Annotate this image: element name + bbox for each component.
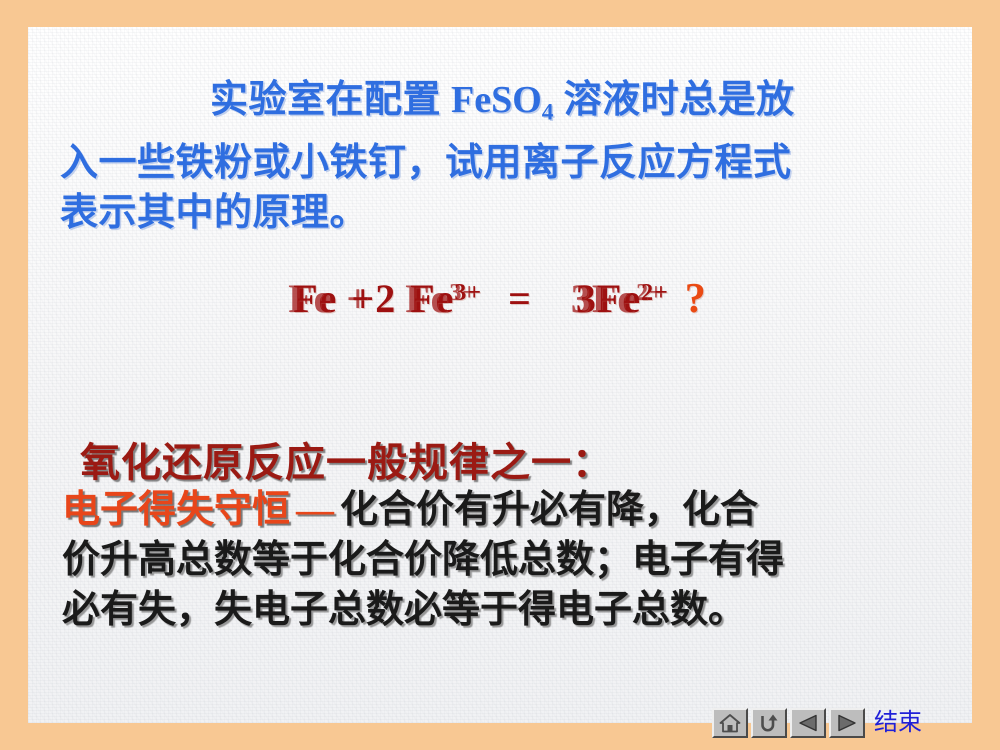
question-line-3: 表示其中的原理。 (60, 188, 950, 238)
triangle-left-icon (797, 714, 819, 732)
equation-reactant-ferric: Fe3+ (410, 276, 482, 321)
equation-equals-sign: = (508, 276, 532, 321)
equation-plus-sign: + (351, 275, 375, 322)
question-text-block: 实验室在配置 FeSO4 溶液时总是放 入一些铁粉或小铁钉，试用离子反应方程式 … (60, 75, 950, 238)
ferrous-base: Fe (597, 275, 641, 322)
end-link[interactable]: 结束 (874, 709, 922, 737)
ferric-charge: 3+ (454, 280, 482, 307)
rule-body-line-1-rest: 化合价有升必有降，化合 (340, 489, 758, 531)
equation-product-ferrous: Fe2+ (597, 276, 669, 321)
equation-reactant-iron: Fe (293, 275, 337, 322)
rule-body-text: 电子得失守恒—化合价有升必有降，化合 价升高总数等于化合价降低总数；电子有得 必… (62, 485, 962, 635)
ferric-base: Fe (410, 275, 454, 322)
ferrous-charge: 2+ (641, 280, 669, 307)
rule-body-line-2: 价升高总数等于化合价降低总数；电子有得 (62, 535, 962, 585)
next-button[interactable] (829, 708, 865, 738)
u-turn-arrow-icon (758, 713, 780, 734)
feso4-subscript: 4 (542, 100, 554, 126)
home-icon (719, 713, 741, 733)
question-line-1-prefix: 实验室在配置 (210, 79, 451, 121)
rule-title: 氧化还原反应一般规律之一： (80, 430, 613, 488)
feso4-base: FeSO (451, 79, 542, 121)
return-button[interactable] (751, 708, 787, 738)
navigation-bar: 结束 (712, 708, 922, 738)
previous-button[interactable] (790, 708, 826, 738)
rule-body-line-3: 必有失，失电子总数必等于得电子总数。 (62, 585, 962, 635)
equation-question-mark: ? (685, 276, 707, 322)
home-button[interactable] (712, 708, 748, 738)
equation-coefficient-two: 2 (375, 276, 396, 321)
rule-highlight-phrase: 电子得失守恒 (62, 489, 290, 531)
question-line-1-suffix: 溶液时总是放 (554, 79, 795, 121)
slide-frame: 实验室在配置 FeSO4 溶液时总是放 入一些铁粉或小铁钉，试用离子反应方程式 … (0, 0, 1000, 750)
question-line-1: 实验室在配置 FeSO4 溶液时总是放 (60, 75, 950, 138)
feso4-formula: FeSO4 (451, 79, 554, 121)
rule-dash: — (290, 489, 340, 531)
rule-body-line-1: 电子得失守恒—化合价有升必有降，化合 (62, 485, 962, 535)
slide-canvas: 实验室在配置 FeSO4 溶液时总是放 入一些铁粉或小铁钉，试用离子反应方程式 … (28, 27, 972, 723)
triangle-right-icon (836, 714, 858, 732)
question-line-2: 入一些铁粉或小铁钉，试用离子反应方程式 (60, 138, 950, 188)
chemical-equation: Fe+2Fe3+=3Fe2+? (28, 275, 972, 323)
